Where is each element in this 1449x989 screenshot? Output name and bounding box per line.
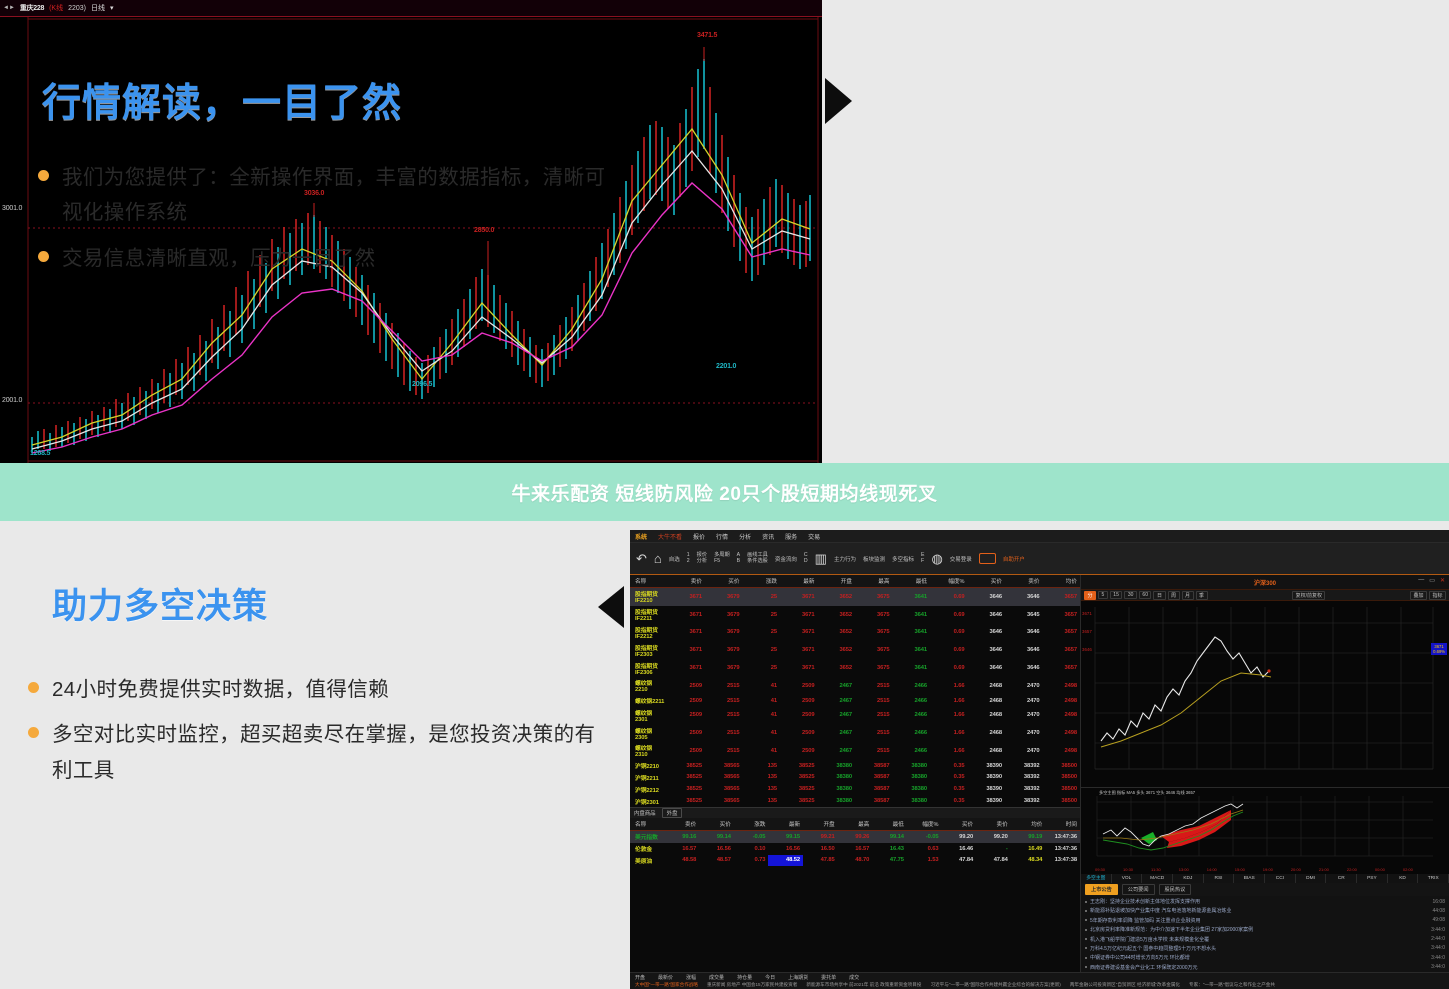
table-row[interactable]: 螺纹钢2310 2509 2515 41 2509 2467 2515 2466… bbox=[630, 742, 1080, 760]
cell-bid: 3679 bbox=[705, 588, 743, 606]
cell-change: 25 bbox=[743, 659, 781, 677]
news-title[interactable]: 北京房贷利率降准新规范：为中介加速下半年企业集团 27家加2000家案例 bbox=[1090, 926, 1428, 933]
cell-low: 2466 bbox=[893, 695, 931, 707]
toolbar-stepper[interactable]: 12 bbox=[687, 553, 690, 565]
col2-avg[interactable]: 均价 bbox=[1011, 818, 1046, 831]
right-chart-panel[interactable]: 沪深300 — ▭ ✕ 分 5 15 30 60 日 周 月 季 bbox=[1080, 575, 1449, 989]
col-name[interactable]: 名称 bbox=[630, 575, 668, 588]
tab-period-day[interactable]: 日 bbox=[1153, 591, 1165, 600]
list-item: 我们为您提供了：全新操作界面，丰富的数据指标，清晰可视化操作系统 bbox=[38, 160, 618, 231]
dropdown-adjust[interactable]: 复权/前复权 bbox=[1292, 591, 1325, 600]
cell-askvol: 3645 bbox=[1005, 606, 1043, 624]
cell-avg: 3657 bbox=[1043, 659, 1081, 677]
menu-item-news[interactable]: 资讯 bbox=[762, 532, 774, 541]
cell-bidvol: 38390 bbox=[968, 783, 1006, 795]
menu-item-analysis[interactable]: 分析 bbox=[739, 532, 751, 541]
cell-bidvol: 16.46 bbox=[941, 843, 976, 855]
cell-low: 3641 bbox=[893, 659, 931, 677]
bullet-text: 我们为您提供了：全新操作界面，丰富的数据指标，清晰可视化操作系统 bbox=[62, 160, 618, 231]
cell-time: 13:47:36 bbox=[1045, 843, 1080, 855]
cell-high: 3675 bbox=[855, 624, 893, 642]
cell-open: 47.85 bbox=[803, 855, 838, 867]
news-title[interactable]: 西南证券建设基金会产业化工 环保既定2000万元 bbox=[1090, 964, 1428, 971]
tab-indicator[interactable]: 指标 bbox=[1429, 591, 1446, 600]
cell-open: 38380 bbox=[818, 772, 856, 784]
table-row[interactable]: 沪铜2301 38525 38565 135 38525 38380 38587… bbox=[630, 795, 1080, 807]
tab-indicator-cr[interactable]: CR bbox=[1326, 874, 1357, 883]
cell-bid: 2515 bbox=[705, 742, 743, 760]
time-axis: 09:30 10:30 11:30 13:00 14:00 15:00 19:0… bbox=[1095, 867, 1413, 872]
toolbar-group-quote[interactable]: 报价 分析 bbox=[697, 553, 707, 565]
table-row[interactable]: 美原油 48.58 48.57 0.73 48.52 47.85 48.70 4… bbox=[630, 855, 1080, 867]
tab-period-30[interactable]: 30 bbox=[1124, 591, 1137, 599]
tab-indicator-bias[interactable]: BIAS bbox=[1234, 874, 1265, 883]
table-row[interactable]: 股指期货IF2210 3671 3679 25 3671 3652 3675 3… bbox=[630, 588, 1080, 606]
cell-ask: 3671 bbox=[668, 606, 706, 624]
cell-change: 0.73 bbox=[734, 855, 769, 867]
ticker-item: 重庆新闻 房地产 中国会15万家民共建投资者 bbox=[707, 982, 797, 988]
chart-period-select[interactable]: 日线 bbox=[91, 3, 105, 13]
right-panel-titlebar: 沪深300 — ▭ ✕ bbox=[1081, 575, 1449, 589]
col-open[interactable]: 开盘 bbox=[818, 575, 856, 588]
news-date: 44:08 bbox=[1432, 908, 1445, 914]
chart-nav-icon[interactable]: ◄► bbox=[3, 5, 15, 11]
menu-item-market[interactable]: 行情 bbox=[716, 532, 728, 541]
minimize-icon[interactable]: — bbox=[1418, 577, 1424, 584]
tab-indicator-rsi[interactable]: RSI bbox=[1204, 874, 1235, 883]
chart-sep1-label: (K线 bbox=[49, 3, 63, 13]
longshort-indicator-chart[interactable]: 多空主图 指标 MA5 多头 3671 空头 3646 均线 3657 09:3… bbox=[1081, 787, 1449, 873]
cell-ask: 3671 bbox=[668, 588, 706, 606]
col-bid[interactable]: 买价 bbox=[705, 575, 743, 588]
status-oi: 持仓量 bbox=[737, 974, 752, 981]
toolbar-stepper-2[interactable]: AB bbox=[737, 553, 740, 565]
time-tick: 10:30 bbox=[1123, 867, 1133, 872]
table-row[interactable]: 美元指数 99.16 99.14 -0.05 99.15 99.21 99.26… bbox=[630, 830, 1080, 842]
cell-name: 沪铜2301 bbox=[630, 795, 668, 807]
toolbar-label-watchlist[interactable]: 自选 bbox=[669, 555, 680, 563]
top-section: ◄► 重庆228 (K线 2203) 日线 ▾ MA均值(5,10,20,0,0… bbox=[0, 0, 1449, 463]
col2-last[interactable]: 最新 bbox=[768, 818, 803, 831]
cell-change: 135 bbox=[743, 760, 781, 772]
status-today: 今日 bbox=[765, 974, 775, 981]
close-icon[interactable]: ✕ bbox=[1440, 577, 1445, 584]
tab-overseas[interactable]: 外盘 bbox=[662, 808, 683, 818]
cell-pct: 1.66 bbox=[930, 724, 968, 742]
tab-period-15[interactable]: 15 bbox=[1110, 591, 1123, 599]
price-marker-badge: 3671 0.69% bbox=[1431, 643, 1447, 655]
cell-high: 38587 bbox=[855, 783, 893, 795]
tab-period-week[interactable]: 周 bbox=[1168, 591, 1180, 600]
cell-high: 2515 bbox=[855, 724, 893, 742]
cell-pct: 0.69 bbox=[930, 624, 968, 642]
col-bidvol[interactable]: 买价 bbox=[968, 575, 1006, 588]
news-date: 3:44:0 bbox=[1431, 927, 1445, 933]
maximize-icon[interactable]: ▭ bbox=[1429, 577, 1435, 584]
menu-item-quote[interactable]: 报价 bbox=[693, 532, 705, 541]
time-tick: 13:00 bbox=[1179, 867, 1189, 872]
table-row[interactable]: 螺纹钢2301 2509 2515 41 2509 2467 2515 2466… bbox=[630, 706, 1080, 724]
bullet-dot-icon bbox=[1085, 910, 1087, 912]
terminal-menubar[interactable]: 系统 大牛不看 报价 行情 分析 资讯 服务 交易 bbox=[630, 530, 1449, 543]
cell-ask: 38525 bbox=[668, 795, 706, 807]
time-tick: 21:00 bbox=[1319, 867, 1329, 872]
bullet-text: 交易信息清晰直观，压力一目了然 bbox=[62, 241, 376, 276]
cell-bid: 38565 bbox=[705, 783, 743, 795]
chart-toolbar[interactable]: ◄► 重庆228 (K线 2203) 日线 ▾ bbox=[0, 0, 822, 17]
cell-high: 99.26 bbox=[838, 830, 873, 842]
table-row[interactable]: 股指期货IF2211 3671 3679 25 3671 3652 3675 3… bbox=[630, 606, 1080, 624]
tab-indicator-vol[interactable]: VOL bbox=[1112, 874, 1143, 883]
status-open: 开盘 bbox=[635, 974, 645, 981]
cell-bid: 3679 bbox=[705, 606, 743, 624]
cell-askvol: 99.20 bbox=[976, 830, 1011, 842]
cell-change: -0.05 bbox=[734, 830, 769, 842]
list-item[interactable]: 新能源补贴退坡加快产业集中度 汽车电池落地新能源金属冶炼业 44:08 bbox=[1085, 907, 1445, 914]
cell-high: 3675 bbox=[855, 641, 893, 659]
cell-open: 38380 bbox=[818, 795, 856, 807]
green-banner: 牛来乐配资 短线防风险 20只个股短期均线现死叉 bbox=[0, 463, 1449, 521]
cell-high: 16.57 bbox=[838, 843, 873, 855]
menu-item-service[interactable]: 服务 bbox=[785, 532, 797, 541]
table-row[interactable]: 沪铜2210 38525 38565 135 38525 38380 38587… bbox=[630, 760, 1080, 772]
col-change[interactable]: 涨跌 bbox=[743, 575, 781, 588]
price-label-low: 3646 bbox=[1082, 647, 1092, 652]
cell-open: 3652 bbox=[818, 606, 856, 624]
tab-indicator-longshort[interactable]: 多空主图 bbox=[1081, 874, 1112, 883]
table-row[interactable]: 沪铜2211 38525 38565 135 38525 38380 38587… bbox=[630, 772, 1080, 784]
toolbar-stepper-4[interactable]: EF bbox=[921, 553, 924, 565]
quote-table-panel[interactable]: 名称 卖价 买价 涨跌 最新 开盘 最高 最低 幅度% 买价 卖价 均价 bbox=[630, 575, 1080, 989]
cell-bid: 99.14 bbox=[699, 830, 734, 842]
list-item[interactable]: 机入港飞船学院门建造5万亩水学校 未来规模金化全覆 2:44:0 bbox=[1085, 936, 1445, 943]
terminal-toolbar[interactable]: ↶ ⌂ 自选 12 报价 分析 多周期 F5 AB 画线工具 条件选股 资金流向 bbox=[630, 543, 1449, 575]
right-panel-title: 沪深300 bbox=[1254, 578, 1276, 587]
bar-chart-icon[interactable]: ▥ bbox=[815, 551, 827, 567]
longshort-legend: 多空主图 指标 MA5 多头 3671 空头 3646 均线 3657 bbox=[1099, 790, 1195, 796]
cell-last-highlighted: 48.52 bbox=[768, 855, 803, 867]
cell-low: 99.14 bbox=[872, 830, 907, 842]
tab-indicator-cci[interactable]: CCI bbox=[1265, 874, 1296, 883]
col2-open[interactable]: 开盘 bbox=[803, 818, 838, 831]
col-ask[interactable]: 卖价 bbox=[668, 575, 706, 588]
time-tick: 22:00 bbox=[1347, 867, 1357, 872]
table-row[interactable]: 股指期货IF2306 3671 3679 25 3671 3652 3675 3… bbox=[630, 659, 1080, 677]
col-avg[interactable]: 均价 bbox=[1043, 575, 1081, 588]
list-item[interactable]: 西南证券建设基金会产业化工 环保既定2000万元 3:44:0 bbox=[1085, 964, 1445, 971]
cell-change: 41 bbox=[743, 677, 781, 695]
cell-change: 25 bbox=[743, 606, 781, 624]
cell-open: 2467 bbox=[818, 742, 856, 760]
window-controls[interactable]: — ▭ ✕ bbox=[1418, 577, 1445, 584]
time-tick: 15:00 bbox=[1235, 867, 1245, 872]
tab-indicator-dmi[interactable]: DMI bbox=[1296, 874, 1327, 883]
cell-pct: 0.69 bbox=[930, 659, 968, 677]
price-annotation-2201: 2201.0 bbox=[716, 363, 736, 370]
ticker-item: 大中国"一带一路"国家合作战略 bbox=[635, 982, 698, 988]
tab-company-news[interactable]: 公司要闻 bbox=[1122, 884, 1155, 895]
news-title[interactable]: 5年期存款利率调降 监管加码 关注重点企业融资用 bbox=[1090, 917, 1429, 924]
toolbar-label-longshort[interactable]: 多空指标 bbox=[892, 555, 914, 563]
news-date: 3:44:0 bbox=[1431, 964, 1445, 970]
account-box-icon[interactable] bbox=[979, 553, 996, 564]
col-pct[interactable]: 幅度% bbox=[930, 575, 968, 588]
cell-bidvol: 99.20 bbox=[941, 830, 976, 842]
cell-askvol: 3646 bbox=[1005, 588, 1043, 606]
status-orders: 委托单 bbox=[821, 974, 836, 981]
col2-bid[interactable]: 买价 bbox=[699, 818, 734, 831]
cell-pct: 0.35 bbox=[930, 772, 968, 784]
cell-ask: 2509 bbox=[668, 677, 706, 695]
cell-high: 3675 bbox=[855, 659, 893, 677]
tab-period-5[interactable]: 5 bbox=[1098, 591, 1108, 599]
cell-last: 3671 bbox=[780, 624, 818, 642]
news-date: 3:44:0 bbox=[1431, 955, 1445, 961]
cell-high: 38587 bbox=[855, 760, 893, 772]
cell-avg: 2498 bbox=[1043, 695, 1081, 707]
price-annotation-peak: 3471.5 bbox=[697, 32, 717, 39]
toolbar-label-openaccount[interactable]: 自助开户 bbox=[1003, 555, 1025, 563]
cell-bidvol: 3646 bbox=[968, 588, 1006, 606]
table-row[interactable]: 伦敦金 16.57 16.56 0.10 16.56 16.50 16.57 1… bbox=[630, 843, 1080, 855]
cell-bidvol: 2468 bbox=[968, 677, 1006, 695]
time-tick: 20:00 bbox=[1291, 867, 1301, 872]
cell-open: 3652 bbox=[818, 659, 856, 677]
tab-indicator-kdj[interactable]: KDJ bbox=[1173, 874, 1204, 883]
col2-bidvol[interactable]: 买价 bbox=[941, 818, 976, 831]
cell-avg: 3657 bbox=[1043, 624, 1081, 642]
news-title[interactable]: 王志刚：坚持企业技术创新主体地位发挥支撑作用 bbox=[1090, 898, 1429, 905]
cell-bidvol: 38390 bbox=[968, 760, 1006, 772]
cell-last: 3671 bbox=[780, 641, 818, 659]
cell-high: 48.70 bbox=[838, 855, 873, 867]
col2-time[interactable]: 时间 bbox=[1045, 818, 1080, 831]
col2-askvol[interactable]: 卖价 bbox=[976, 818, 1011, 831]
cell-ask: 38525 bbox=[668, 760, 706, 772]
col2-pct[interactable]: 幅度% bbox=[907, 818, 942, 831]
cell-bid: 38565 bbox=[705, 760, 743, 772]
table-row[interactable]: 股指期货IF2212 3671 3679 25 3671 3652 3675 3… bbox=[630, 624, 1080, 642]
tab-domestic[interactable]: 内盘商品 bbox=[634, 809, 656, 817]
tab-indicator-macd[interactable]: MACD bbox=[1142, 874, 1173, 883]
cell-ask: 2509 bbox=[668, 724, 706, 742]
col-askvol[interactable]: 卖价 bbox=[1005, 575, 1043, 588]
cell-bid: 3679 bbox=[705, 659, 743, 677]
cell-low: 16.43 bbox=[872, 843, 907, 855]
news-title[interactable]: 中钢证券中公司44时增长方向5万元 环比都增 bbox=[1090, 954, 1428, 961]
cell-avg: 2498 bbox=[1043, 677, 1081, 695]
bulb-icon[interactable]: ◍ bbox=[931, 551, 942, 567]
menu-item-trade[interactable]: 交易 bbox=[808, 532, 820, 541]
pointer-triangle-left-icon bbox=[598, 586, 624, 628]
menu-item-system[interactable]: 系统 bbox=[635, 532, 647, 541]
bullet-dot-icon bbox=[1085, 929, 1087, 931]
cell-ask: 3671 bbox=[668, 641, 706, 659]
cell-change: 25 bbox=[743, 624, 781, 642]
top-text-column bbox=[822, 0, 1449, 463]
cell-askvol: 2470 bbox=[1005, 706, 1043, 724]
intraday-chart[interactable]: 3671 3657 3646 3671 0.69% bbox=[1081, 601, 1449, 787]
table-row[interactable]: 螺纹钢2305 2509 2515 41 2509 2467 2515 2466… bbox=[630, 724, 1080, 742]
table-row[interactable]: 沪铜2212 38525 38565 135 38525 38380 38587… bbox=[630, 783, 1080, 795]
cell-pct: 1.66 bbox=[930, 677, 968, 695]
cell-askvol: 38392 bbox=[1005, 772, 1043, 784]
terminal-status-bar: 开盘 最新价 涨幅 成交量 持仓量 今日 上海期货 委托单 成交 大中国"一带一… bbox=[630, 972, 1449, 989]
tab-indicator-kd[interactable]: KD bbox=[1388, 874, 1419, 883]
cell-change: 135 bbox=[743, 772, 781, 784]
tab-indicator-psy[interactable]: PSY bbox=[1357, 874, 1388, 883]
table-row[interactable]: 螺纹钢2211 2509 2515 41 2509 2467 2515 2466… bbox=[630, 695, 1080, 707]
cell-high: 38587 bbox=[855, 795, 893, 807]
pointer-triangle-right-icon bbox=[825, 78, 852, 124]
tab-forum[interactable]: 股民热议 bbox=[1159, 884, 1192, 895]
cell-high: 2515 bbox=[855, 695, 893, 707]
cell-avg: 3657 bbox=[1043, 641, 1081, 659]
cell-avg: 3657 bbox=[1043, 606, 1081, 624]
status-exchange: 上海期货 bbox=[788, 974, 808, 981]
bullet-dot-icon bbox=[1085, 919, 1087, 921]
tab-indicator-trix[interactable]: TRIX bbox=[1418, 874, 1449, 883]
menu-item-daniu[interactable]: 大牛不看 bbox=[658, 532, 682, 541]
price-annotation-2096: 2096.5 bbox=[412, 381, 432, 388]
cell-ask: 2509 bbox=[668, 706, 706, 724]
cell-change: 41 bbox=[743, 695, 781, 707]
col2-high[interactable]: 最高 bbox=[838, 818, 873, 831]
cell-pct: 1.53 bbox=[907, 855, 942, 867]
toolbar-label-mainforce[interactable]: 主力行为 bbox=[834, 555, 856, 563]
cell-last: 38525 bbox=[780, 772, 818, 784]
home-icon[interactable]: ⌂ bbox=[654, 551, 662, 566]
cell-change: 0.10 bbox=[734, 843, 769, 855]
list-item[interactable]: 王志刚：坚持企业技术创新主体地位发挥支撑作用 16:08 bbox=[1085, 898, 1445, 905]
cell-low: 38380 bbox=[893, 783, 931, 795]
toolbar-label-fundflow[interactable]: 资金流向 bbox=[775, 555, 797, 563]
quote-sub-tabs[interactable]: 内盘商品 外盘 bbox=[630, 807, 1080, 818]
col2-name[interactable]: 名称 bbox=[630, 818, 665, 831]
cell-name: 股指期货IF2212 bbox=[630, 624, 668, 642]
cell-name: 螺纹钢2211 bbox=[630, 695, 668, 707]
cell-name: 螺纹钢2301 bbox=[630, 706, 668, 724]
cell-name: 股指期货IF2306 bbox=[630, 659, 668, 677]
cell-last: 2509 bbox=[780, 724, 818, 742]
tab-period-active[interactable]: 分 bbox=[1084, 591, 1096, 600]
cell-change: 41 bbox=[743, 706, 781, 724]
tab-period-60[interactable]: 60 bbox=[1139, 591, 1152, 599]
toolbar-group-period[interactable]: 多周期 F5 bbox=[714, 553, 730, 565]
chevron-down-icon[interactable]: ▾ bbox=[110, 4, 114, 12]
news-title[interactable]: 万科4.5万亿纪元起五个 国参中趋同整理5十万元不想水头 bbox=[1090, 945, 1428, 952]
list-item[interactable]: 5年期存款利率调降 监管加码 关注重点企业融资用 49:08 bbox=[1085, 917, 1445, 924]
cell-change: 41 bbox=[743, 742, 781, 760]
list-item[interactable]: 北京房贷利率降准新规范：为中介加速下半年企业集团 27家加2000家案例 3:4… bbox=[1085, 926, 1445, 933]
bullet-text: 多空对比实时监控，超买超卖尽在掌握，是您投资决策的有利工具 bbox=[52, 717, 603, 788]
toolbar-label-login[interactable]: 交易登录 bbox=[950, 555, 972, 563]
trading-terminal-screenshot[interactable]: 系统 大牛不看 报价 行情 分析 资讯 服务 交易 ↶ ⌂ 自选 12 报价 分… bbox=[630, 530, 1449, 989]
cell-change: 25 bbox=[743, 641, 781, 659]
cell-bidvol: 2468 bbox=[968, 706, 1006, 724]
cell-bidvol: 2468 bbox=[968, 742, 1006, 760]
tab-announcements[interactable]: 上市公告 bbox=[1085, 884, 1118, 895]
tab-overlay[interactable]: 叠加 bbox=[1410, 591, 1427, 600]
table-row[interactable]: 螺纹钢2210 2509 2515 41 2509 2467 2515 2466… bbox=[630, 677, 1080, 695]
indicator-tabs[interactable]: 多空主图 VOL MACD KDJ RSI BIAS CCI DMI CR PS… bbox=[1081, 873, 1449, 883]
news-title[interactable]: 机入港飞船学院门建造5万亩水学校 未来规模金化全覆 bbox=[1090, 936, 1428, 943]
cell-bid: 2515 bbox=[705, 706, 743, 724]
back-arrow-icon[interactable]: ↶ bbox=[636, 551, 647, 567]
cell-bid: 48.57 bbox=[699, 855, 734, 867]
cell-pct: 0.69 bbox=[930, 641, 968, 659]
cell-askvol: - bbox=[976, 843, 1011, 855]
time-tick: 09:30 bbox=[1095, 867, 1105, 872]
col-low[interactable]: 最低 bbox=[893, 575, 931, 588]
bullet-dot-icon bbox=[28, 727, 39, 738]
tab-period-quarter[interactable]: 季 bbox=[1196, 591, 1208, 600]
col2-low[interactable]: 最低 bbox=[872, 818, 907, 831]
cell-askvol: 2470 bbox=[1005, 677, 1043, 695]
col-last[interactable]: 最新 bbox=[780, 575, 818, 588]
news-date: 16:08 bbox=[1432, 899, 1445, 905]
col2-change[interactable]: 涨跌 bbox=[734, 818, 769, 831]
news-title[interactable]: 新能源补贴退坡加快产业集中度 汽车电池落地新能源金属冶炼业 bbox=[1090, 907, 1429, 914]
forex-quote-table[interactable]: 名称 卖价 买价 涨跌 最新 开盘 最高 最低 幅度% 买价 卖价 均价 bbox=[630, 818, 1080, 866]
terminal-body: 名称 卖价 买价 涨跌 最新 开盘 最高 最低 幅度% 买价 卖价 均价 bbox=[630, 575, 1449, 989]
toolbar-label-sector[interactable]: 板块监测 bbox=[863, 555, 885, 563]
bullet-dot-icon bbox=[38, 170, 49, 181]
futures-table-body: 股指期货IF2210 3671 3679 25 3671 3652 3675 3… bbox=[630, 588, 1080, 807]
cell-name: 伦敦金 bbox=[630, 843, 665, 855]
cell-pct: -0.05 bbox=[907, 830, 942, 842]
right-panel-toolbar[interactable]: 分 5 15 30 60 日 周 月 季 复权/前复权 叠加 指标 bbox=[1081, 589, 1449, 601]
y-axis-label-lower: 2001.0 bbox=[2, 397, 22, 404]
cell-bid: 2515 bbox=[705, 677, 743, 695]
cell-ask: 99.16 bbox=[665, 830, 700, 842]
cell-avg: 2498 bbox=[1043, 724, 1081, 742]
toolbar-stepper-3[interactable]: CD bbox=[804, 553, 808, 565]
slide-page: ◄► 重庆228 (K线 2203) 日线 ▾ MA均值(5,10,20,0,0… bbox=[0, 0, 1449, 989]
cell-askvol: 3646 bbox=[1005, 659, 1043, 677]
table-row[interactable]: 股指期货IF2303 3671 3679 25 3671 3652 3675 3… bbox=[630, 641, 1080, 659]
cell-ask: 48.58 bbox=[665, 855, 700, 867]
cell-bid: 16.56 bbox=[699, 843, 734, 855]
news-tabs[interactable]: 上市公告 公司要闻 股民热议 bbox=[1081, 883, 1449, 896]
cell-avg: 38500 bbox=[1043, 783, 1081, 795]
cell-low: 38380 bbox=[893, 772, 931, 784]
cell-pct: 0.35 bbox=[930, 760, 968, 772]
bottom-bullet-list: 24小时免费提供实时数据，值得信赖 多空对比实时监控，超买超卖尽在掌握，是您投资… bbox=[28, 672, 603, 798]
cell-avg: 99.19 bbox=[1011, 830, 1046, 842]
cell-bidvol: 3646 bbox=[968, 606, 1006, 624]
cell-last: 3671 bbox=[780, 606, 818, 624]
forex-table-body: 美元指数 99.16 99.14 -0.05 99.15 99.21 99.26… bbox=[630, 830, 1080, 866]
cell-low: 38380 bbox=[893, 760, 931, 772]
cell-pct: 1.66 bbox=[930, 695, 968, 707]
marker-percent: 0.69% bbox=[1433, 649, 1445, 654]
tab-period-month[interactable]: 月 bbox=[1182, 591, 1194, 600]
futures-quote-table[interactable]: 名称 卖价 买价 涨跌 最新 开盘 最高 最低 幅度% 买价 卖价 均价 bbox=[630, 575, 1080, 807]
col2-ask[interactable]: 卖价 bbox=[665, 818, 700, 831]
cell-pct: 1.66 bbox=[930, 742, 968, 760]
price-label-mid: 3657 bbox=[1082, 629, 1092, 634]
table-header-row: 名称 卖价 买价 涨跌 最新 开盘 最高 最低 幅度% 买价 卖价 均价 bbox=[630, 575, 1080, 588]
list-item[interactable]: 万科4.5万亿纪元起五个 国参中趋同整理5十万元不想水头 3:44:0 bbox=[1085, 945, 1445, 952]
toolbar-group-drawing[interactable]: 画线工具 条件选股 bbox=[747, 553, 768, 565]
cell-bidvol: 38390 bbox=[968, 772, 1006, 784]
ticker-item: 新能源车市场共享中 前2021年 前沿 政策重新资金项目投 bbox=[806, 982, 921, 988]
cell-bid: 3679 bbox=[705, 624, 743, 642]
col-high[interactable]: 最高 bbox=[855, 575, 893, 588]
list-item[interactable]: 中钢证券中公司44时增长方向5万元 环比都增 3:44:0 bbox=[1085, 954, 1445, 961]
cell-open: 3652 bbox=[818, 588, 856, 606]
